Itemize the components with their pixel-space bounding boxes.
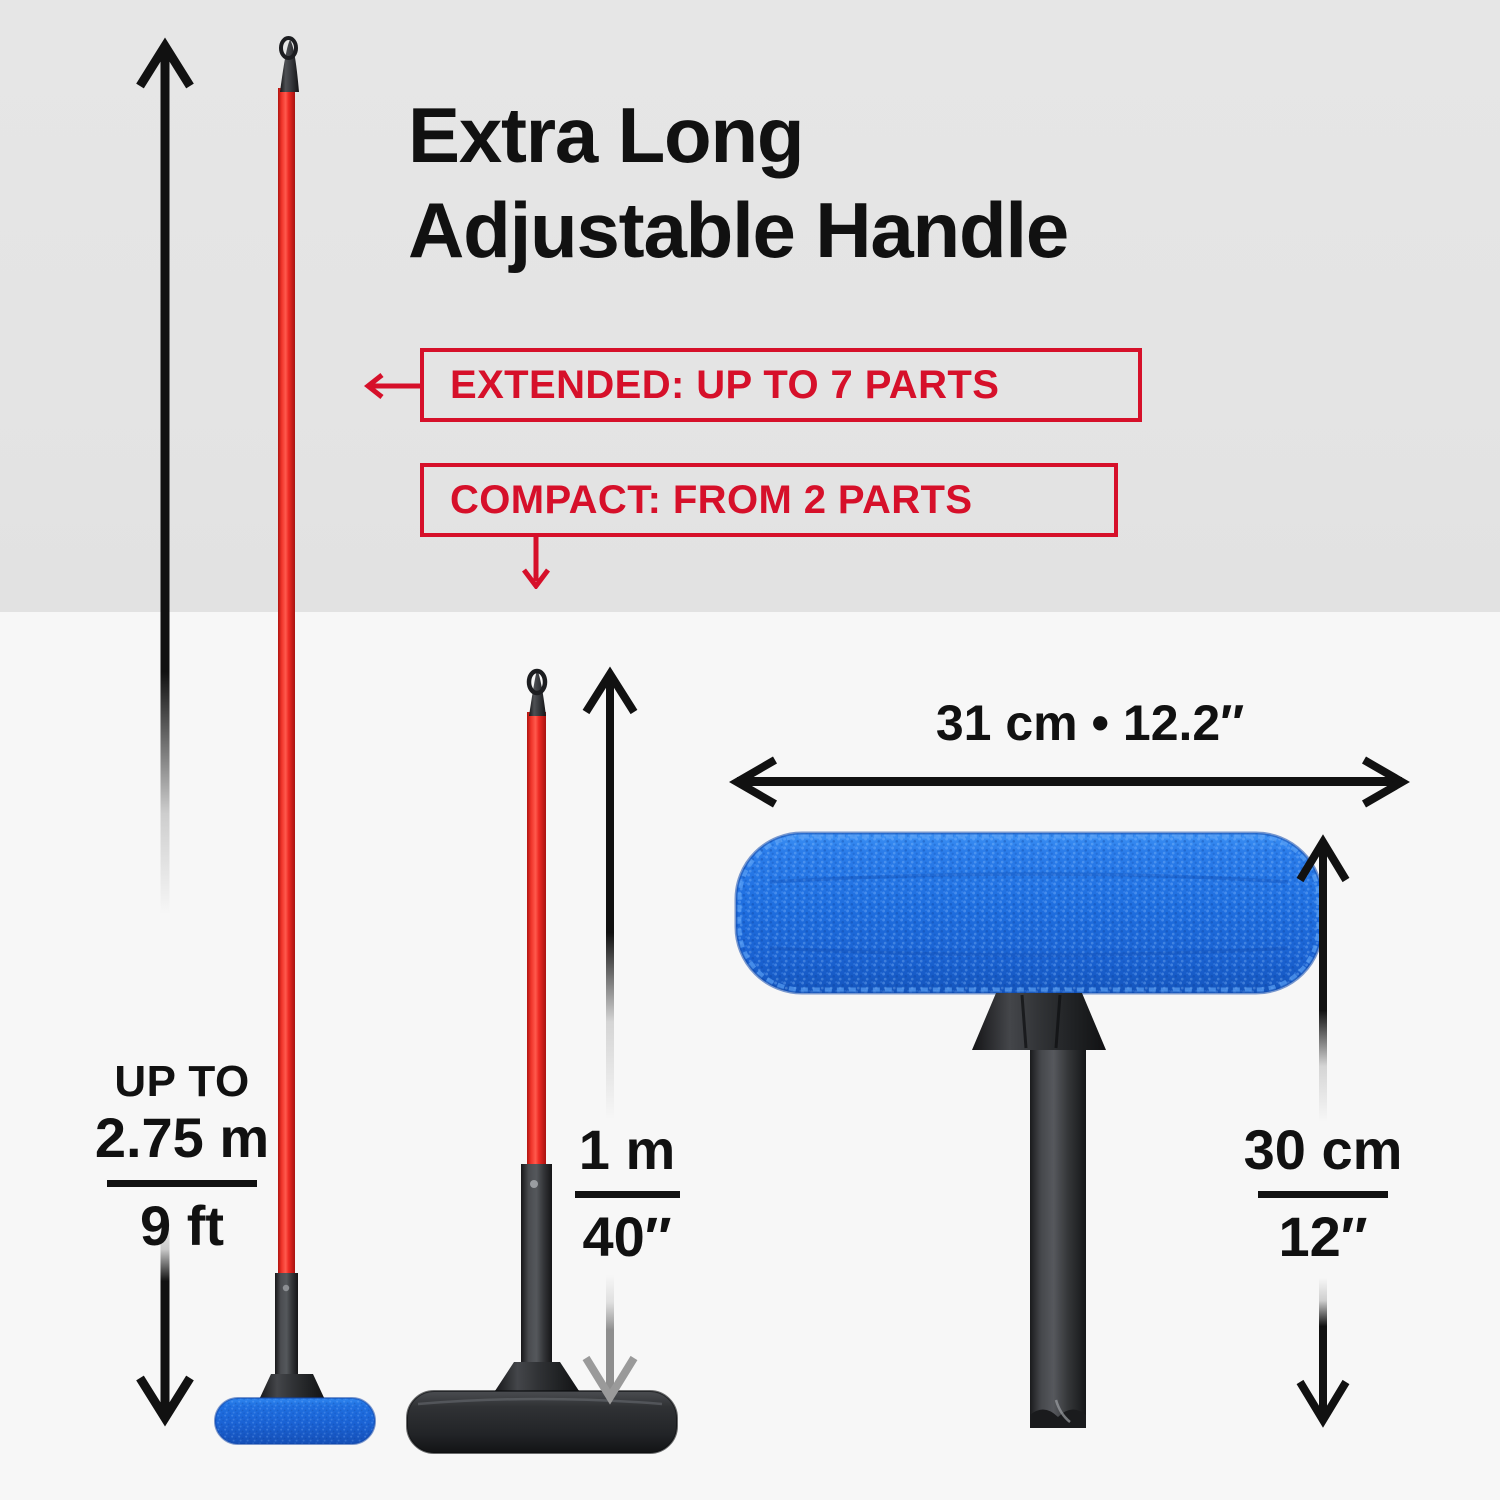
callout-extended-label: EXTENDED: UP TO 7 PARTS (450, 363, 999, 408)
callout-compact: COMPACT: FROM 2 PARTS (420, 463, 1118, 537)
callout-compact-label: COMPACT: FROM 2 PARTS (450, 478, 972, 523)
head-depth-metric: 30 cm (1228, 1118, 1418, 1182)
head-depth-divider (1258, 1191, 1388, 1198)
compact-height-divider (575, 1191, 680, 1198)
extended-height-divider (107, 1180, 257, 1187)
extended-height-metric: 2.75 m (62, 1106, 302, 1170)
infographic-canvas: Extra Long Adjustable Handle EXTENDED: U… (0, 0, 1500, 1500)
compact-height-label: 1 m 40″ (552, 1118, 702, 1270)
compact-height-imperial: 40″ (552, 1205, 702, 1269)
head-depth-imperial: 12″ (1228, 1205, 1418, 1269)
extended-height-label: UP TO 2.75 m 9 ft (62, 1058, 302, 1258)
head-width-label: 31 cm • 12.2″ (900, 694, 1280, 752)
callout-compact-arrow-down-icon (508, 537, 564, 589)
extended-height-imperial: 9 ft (62, 1194, 302, 1258)
extended-height-prefix: UP TO (62, 1058, 302, 1106)
callout-extended: EXTENDED: UP TO 7 PARTS (420, 348, 1142, 422)
headline-line-2: Adjustable Handle (408, 183, 1308, 278)
callout-extended-arrow-left-icon (364, 372, 422, 400)
compact-height-metric: 1 m (552, 1118, 702, 1182)
head-depth-label: 30 cm 12″ (1228, 1118, 1418, 1270)
page-title: Extra Long Adjustable Handle (408, 88, 1308, 278)
headline-line-1: Extra Long (408, 91, 803, 179)
